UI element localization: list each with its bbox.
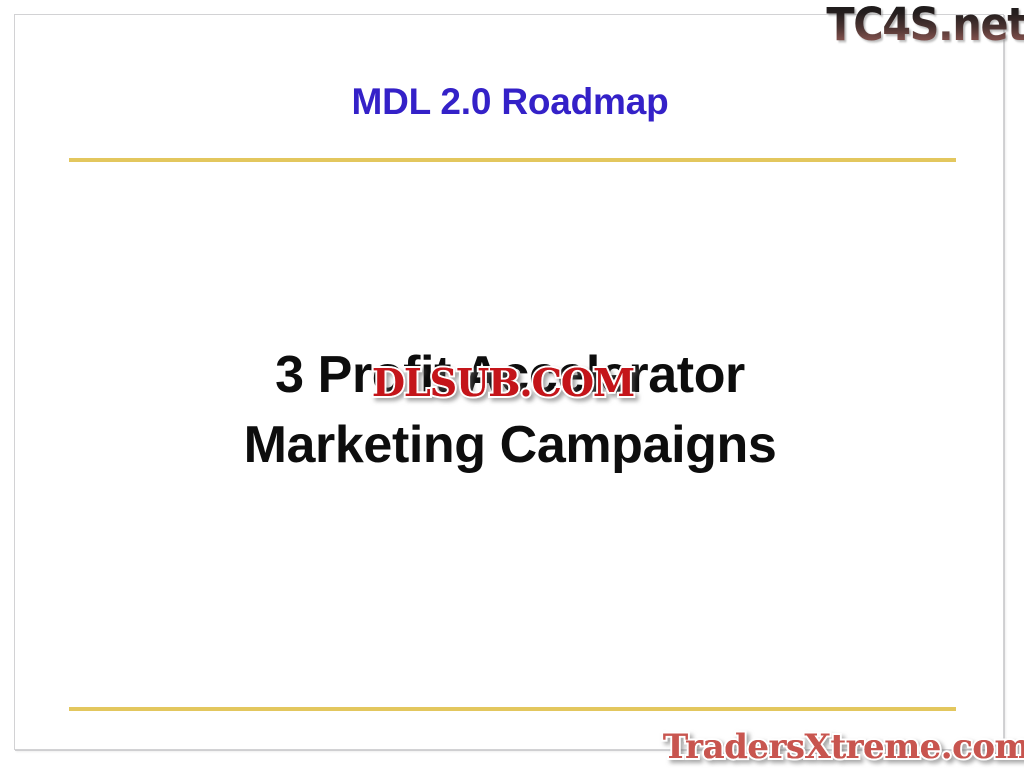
presentation-slide: MDL 2.0 Roadmap 3 Profit Accelerator Mar…: [14, 14, 1004, 750]
body-line-1: 3 Profit Accelerator: [15, 340, 1005, 410]
divider-rule-top: [69, 158, 956, 162]
slide-body-text: 3 Profit Accelerator Marketing Campaigns: [15, 340, 1005, 480]
page-title: MDL 2.0 Roadmap: [15, 81, 1005, 123]
body-line-2: Marketing Campaigns: [15, 410, 1005, 480]
divider-rule-bottom: [69, 707, 956, 711]
